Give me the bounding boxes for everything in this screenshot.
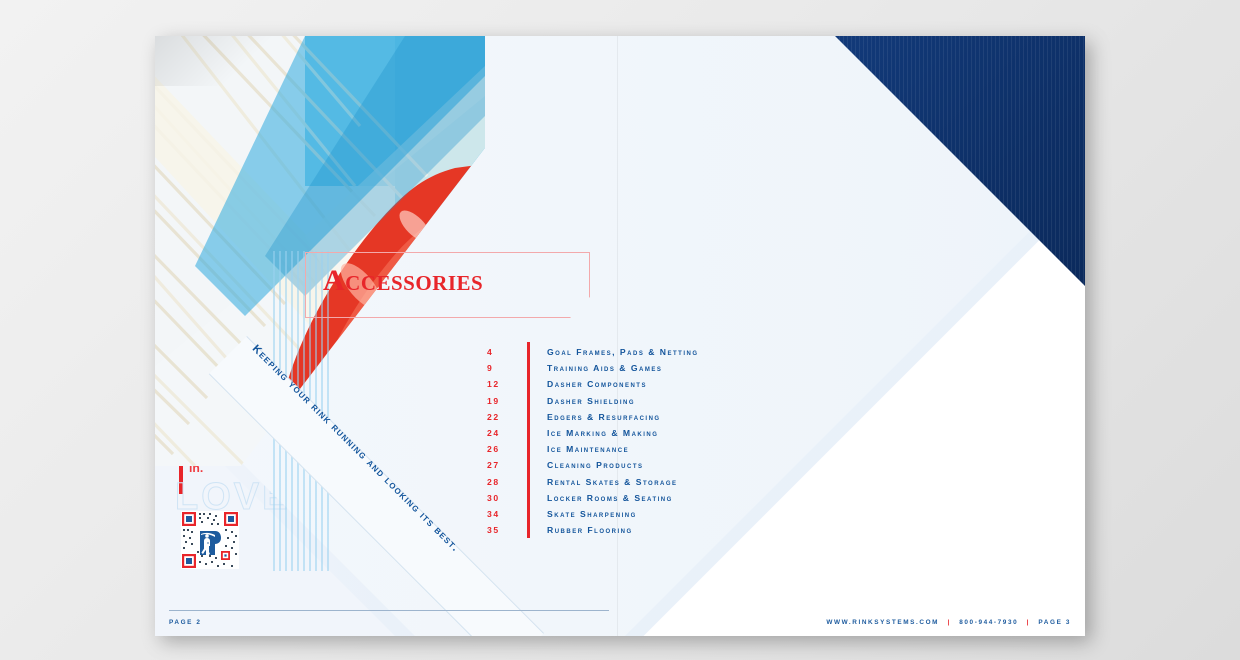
toc-page-number: 30 bbox=[481, 493, 527, 503]
toc-page-number: 19 bbox=[481, 396, 527, 406]
toc-page-number: 4 bbox=[481, 347, 527, 357]
footer-page-number: PAGE 3 bbox=[1038, 619, 1071, 626]
toc-row[interactable]: 4 Goal Frames, Pads & Netting bbox=[481, 344, 781, 360]
footer-separator: | bbox=[1022, 619, 1035, 626]
toc-row[interactable]: 22 Edgers & Resurfacing bbox=[481, 409, 781, 425]
toc-page-number: 12 bbox=[481, 379, 527, 389]
right-footer-rule bbox=[169, 610, 609, 611]
accessories-title: Accessories bbox=[323, 264, 483, 298]
toc-label: Skate Sharpening bbox=[527, 509, 637, 519]
toc-label: Ice Maintenance bbox=[527, 444, 629, 454]
toc-label: Ice Marking & Making bbox=[527, 428, 658, 438]
toc-row[interactable]: 27 Cleaning Products bbox=[481, 457, 781, 473]
toc-label: Dasher Shielding bbox=[527, 396, 635, 406]
right-footer: WWW.RINKSYSTEMS.COM | 800-944-7930 | PAG… bbox=[826, 619, 1071, 626]
toc-label: Cleaning Products bbox=[527, 460, 644, 470]
toc-page-number: 28 bbox=[481, 477, 527, 487]
toc-row[interactable]: 9 Training Aids & Games bbox=[481, 360, 781, 376]
toc-label: Training Aids & Games bbox=[527, 363, 662, 373]
toc-page-number: 9 bbox=[481, 363, 527, 373]
spread-gutter bbox=[617, 36, 618, 636]
toc-row[interactable]: 26 Ice Maintenance bbox=[481, 441, 781, 457]
toc-row[interactable]: 19 Dasher Shielding bbox=[481, 393, 781, 409]
toc-label: Goal Frames, Pads & Netting bbox=[527, 347, 699, 357]
toc-label: Locker Rooms & Seating bbox=[527, 493, 673, 503]
toc-page-number: 34 bbox=[481, 509, 527, 519]
toc-label: Rental Skates & Storage bbox=[527, 477, 678, 487]
toc-row[interactable]: 35 Rubber Flooring bbox=[481, 522, 781, 538]
qr-code-icon[interactable] bbox=[181, 511, 239, 569]
footer-separator: | bbox=[942, 619, 955, 626]
toc-page-number: 22 bbox=[481, 412, 527, 422]
toc-page-number: 26 bbox=[481, 444, 527, 454]
toc-row[interactable]: 24 Ice Marking & Making bbox=[481, 425, 781, 441]
toc-row[interactable]: 30 Locker Rooms & Seating bbox=[481, 490, 781, 506]
left-footer-page: PAGE 2 bbox=[169, 619, 202, 626]
table-of-contents: 4 Goal Frames, Pads & Netting 9 Training… bbox=[481, 344, 781, 538]
toc-row[interactable]: 28 Rental Skates & Storage bbox=[481, 474, 781, 490]
toc-label: Dasher Components bbox=[527, 379, 647, 389]
toc-page-number: 35 bbox=[481, 525, 527, 535]
toc-row[interactable]: 34 Skate Sharpening bbox=[481, 506, 781, 522]
footer-phone[interactable]: 800-944-7930 bbox=[959, 619, 1018, 626]
screenshot-canvas: AS THE LEADING FAMILY-OWNED, AMERICAN-MA… bbox=[0, 0, 1240, 660]
toc-page-number: 24 bbox=[481, 428, 527, 438]
toc-row[interactable]: 12 Dasher Components bbox=[481, 376, 781, 392]
footer-website[interactable]: WWW.RINKSYSTEMS.COM bbox=[826, 619, 939, 626]
brochure-spread: AS THE LEADING FAMILY-OWNED, AMERICAN-MA… bbox=[155, 36, 1085, 636]
toc-page-number: 27 bbox=[481, 460, 527, 470]
toc-label: Edgers & Resurfacing bbox=[527, 412, 661, 422]
